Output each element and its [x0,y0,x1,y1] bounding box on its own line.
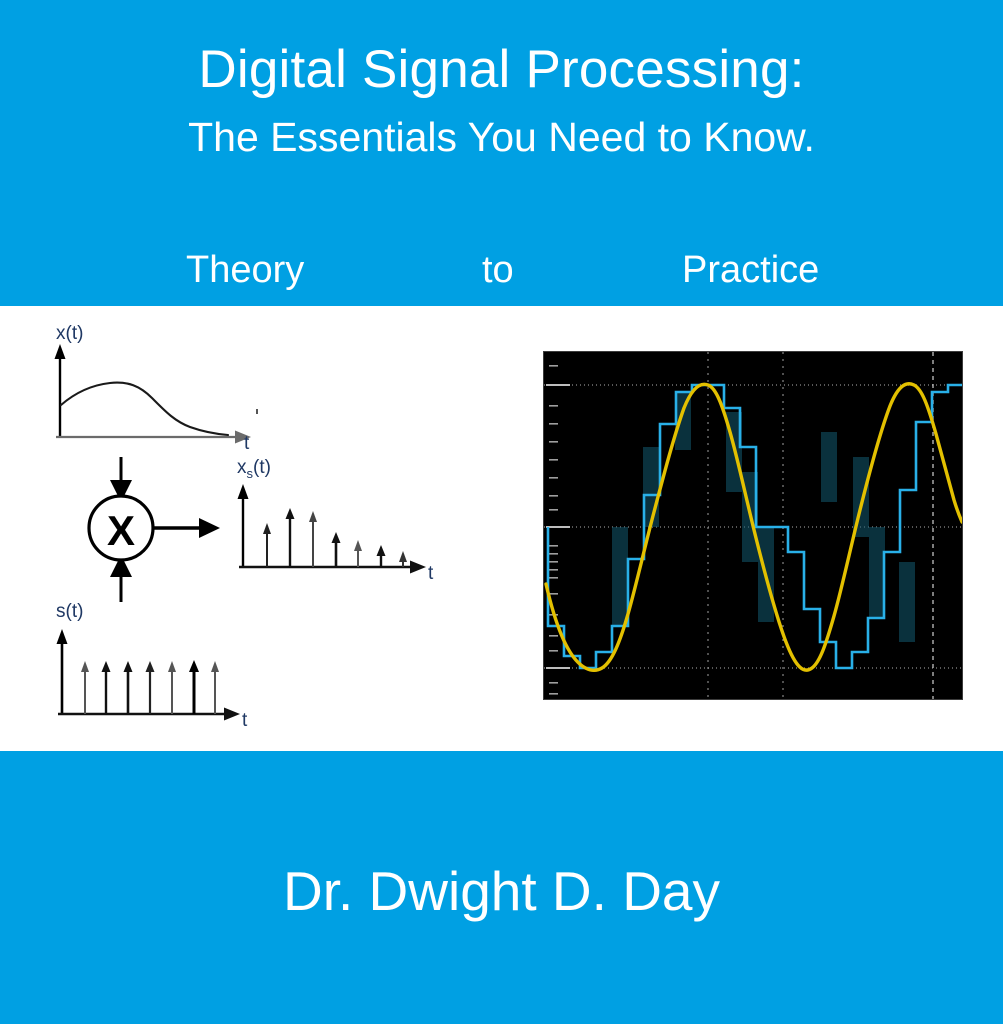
plot-x-of-t [55,344,259,444]
x-plot-axis-label: t [244,433,250,454]
multiplier-block: X [89,457,220,602]
s-plot-impulses [81,660,219,714]
xs-plot-label-prefix: x [237,457,247,478]
multiplier-output-arrowhead [199,518,220,538]
xs-plot-label: xs(t) [237,457,271,481]
page-subtitle: The Essentials You Need to Know. [0,115,1003,160]
sampling-block-diagram: X [0,306,520,751]
tagline: Theory to Practice [0,249,1003,299]
s-plot-label: s(t) [56,601,83,622]
oscilloscope-canvas [544,352,962,699]
tagline-to: to [482,249,514,292]
author-name: Dr. Dwight D. Day [0,859,1003,923]
multiplier-symbol: X [107,507,135,554]
x-plot-label: x(t) [56,323,83,344]
s-plot-y-arrowhead [57,629,68,644]
plot-s-of-t: s(t) t [56,601,248,731]
footer-band: Dr. Dwight D. Day [0,751,1003,1024]
diagram-canvas: X [0,306,520,751]
x-plot-curve [61,383,228,435]
tagline-practice: Practice [682,249,819,292]
s-plot-axis-label: t [242,710,248,731]
xs-plot-axis-label: t [428,563,434,584]
plot-xs-of-t: xs(t) t [237,457,434,584]
page-title: Digital Signal Processing: [0,42,1003,98]
xs-plot-label-suffix: (t) [253,457,271,478]
s-plot-x-arrowhead [224,708,240,721]
xs-plot-y-arrowhead [238,484,249,499]
oscilloscope-screen [543,351,963,700]
x-plot-y-arrowhead [55,344,66,359]
x-plot-artifact-mark [256,409,258,414]
xs-plot-impulses [263,508,407,567]
tagline-theory: Theory [186,249,304,292]
illustration-band: X [0,306,1003,751]
xs-plot-x-arrowhead [410,561,426,574]
book-cover: Digital Signal Processing: The Essential… [0,0,1003,1024]
header-band: Digital Signal Processing: The Essential… [0,0,1003,306]
